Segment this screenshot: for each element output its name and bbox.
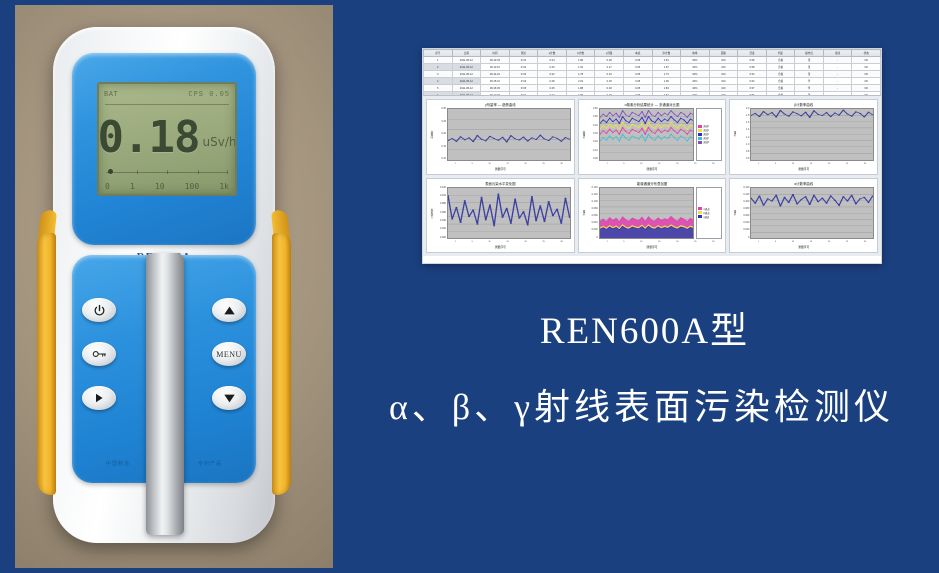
y-tick-label: 0.15 xyxy=(441,146,446,148)
chart-x-axis-label: 测量序号 xyxy=(582,167,723,172)
table-column-header[interactable]: 序号 xyxy=(424,50,453,57)
table-column-header[interactable]: 活度 xyxy=(738,50,767,57)
chart-y-ticks: 0.600.500.400.300.200.100.00 xyxy=(588,108,599,161)
table-cell: 32% xyxy=(681,57,710,64)
table-cell: 李 xyxy=(795,78,824,85)
table-cell: 100 xyxy=(709,57,738,64)
legend-label: 通道5 xyxy=(703,140,709,144)
x-tick-label: 15 xyxy=(506,163,508,165)
scale-label: 0 xyxy=(105,182,110,191)
table-cell: 3 xyxy=(424,71,453,78)
table-cell: 1.78 xyxy=(566,71,595,78)
y-tick-label: 0.6 xyxy=(746,158,749,160)
table-cell: 0.25 xyxy=(538,85,567,92)
chart-body: 计数率0.600.500.400.300.200.100.00通道1通道2通道3… xyxy=(582,108,723,161)
play-icon xyxy=(93,392,105,404)
chart-body: 计数0.1400.1200.1000.0800.0600.0400.0200α通… xyxy=(582,187,723,240)
y-tick-label: 0.080 xyxy=(440,203,446,205)
device-handle xyxy=(146,253,184,535)
x-tick-label: 10 xyxy=(792,241,794,243)
chart-body: 污染水平0.1200.1000.0800.0600.0400.0200.000 xyxy=(430,187,571,240)
y-tick-label: 0.040 xyxy=(592,222,598,224)
bargraph-tick xyxy=(227,170,228,174)
chart-gamma-dose-rate: γ剂量率 — 趋势曲线剂量率0.300.250.200.150.10151015… xyxy=(426,99,575,175)
scale-label: 100 xyxy=(185,182,199,191)
table-cell: 32% xyxy=(681,64,710,71)
table-cell: - xyxy=(823,78,852,85)
table-cell: 合格 xyxy=(766,64,795,71)
x-tick-label: 20 xyxy=(828,241,830,243)
y-tick-label: 0.060 xyxy=(440,212,446,214)
chart-surface-contamination: 表面污染水平变化图污染水平0.1200.1000.0800.0600.0400.… xyxy=(426,178,575,254)
chart-body: 计数2.01.81.61.41.21.00.80.6 xyxy=(733,108,874,161)
product-photo: BAT CPS 0.05 0.18 uSv/h 0 1 10 100 1k RE… xyxy=(15,5,333,568)
table-cell: 2011-05-12 xyxy=(452,85,481,92)
table-column-header[interactable]: 状态 xyxy=(852,50,881,57)
y-tick-label: 1.0 xyxy=(746,144,749,146)
x-tick-label: 30 xyxy=(864,241,866,243)
y-tick-label: 0.20 xyxy=(441,133,446,135)
table-cell: 0.05 xyxy=(623,64,652,71)
table-cell: 09:16:45 xyxy=(481,85,510,92)
y-tick-label: 0.040 xyxy=(743,222,749,224)
table-cell: P-04 xyxy=(509,78,538,85)
x-tick-label: 20 xyxy=(524,241,526,243)
y-tick-label: 0.020 xyxy=(592,229,598,231)
x-tick-label: 25 xyxy=(542,241,544,243)
y-tick-label: 0.10 xyxy=(441,158,446,160)
x-tick-label: 15 xyxy=(506,241,508,243)
table-cell: 0.28 xyxy=(538,78,567,85)
table-cell: 合格 xyxy=(766,71,795,78)
x-tick-label: 5 xyxy=(472,241,473,243)
y-tick-label: 0.100 xyxy=(743,201,749,203)
play-key[interactable] xyxy=(82,386,116,410)
y-tick-label: 0.140 xyxy=(592,187,598,189)
table-cell: 0.54 xyxy=(738,71,767,78)
x-tick-label: 5 xyxy=(775,163,776,165)
legend-swatch xyxy=(698,141,702,144)
table-cell: P-01 xyxy=(509,57,538,64)
table-cell: 100 xyxy=(709,71,738,78)
table-cell: 0.56 xyxy=(738,57,767,64)
table-row[interactable]: 32011-05-1209:14:22P-030.221.780.190.051… xyxy=(424,71,881,78)
table-cell: - xyxy=(823,64,852,71)
chart-beta-count: β计数率曲线计数2.01.81.61.41.21.00.80.615101520… xyxy=(729,99,878,175)
table-cell: 1.88 xyxy=(566,85,595,92)
y-tick-label: 0.10 xyxy=(593,150,598,152)
table-cell: 32% xyxy=(681,85,710,92)
table-cell: 09:14:22 xyxy=(481,71,510,78)
table-cell: 0.17 xyxy=(595,64,624,71)
data-table-head: 序号日期时间测点α计数β计数γ剂量本底净计数效率面积活度判定操作员备注状态 xyxy=(424,50,881,57)
x-tick-label: 25 xyxy=(846,163,848,165)
x-tick-label: 20 xyxy=(676,241,678,243)
table-column-header[interactable]: 日期 xyxy=(452,50,481,57)
y-tick-label: 2.0 xyxy=(746,108,749,110)
bargraph-tick xyxy=(137,170,138,174)
y-tick-label: 0.100 xyxy=(592,201,598,203)
chart-y-axis-label: 计数 xyxy=(733,108,739,161)
bargraph-tick xyxy=(167,170,168,174)
x-tick-label: 30 xyxy=(864,163,866,165)
table-cell: 1.83 xyxy=(652,85,681,92)
table-cell: 合格 xyxy=(766,85,795,92)
legend-item: γ通道 xyxy=(698,215,720,219)
table-cell: P-02 xyxy=(509,64,538,71)
table-cell: 0.19 xyxy=(595,71,624,78)
table-column-header[interactable]: 效率 xyxy=(681,50,710,57)
x-tick-label: 1 xyxy=(455,241,456,243)
key-lock-key[interactable] xyxy=(82,342,116,366)
chart-multi-nuclide: α核素分析结果统计 — 多通道对比图计数率0.600.500.400.300.2… xyxy=(578,99,727,175)
chart-y-ticks: 0.1200.1000.0800.0600.0400.0200.000 xyxy=(436,187,447,240)
chart-legend: α通道β通道γ通道 xyxy=(696,187,722,240)
y-tick-label: 0.080 xyxy=(592,208,598,210)
y-tick-label: 0.120 xyxy=(743,194,749,196)
table-cell: 1 xyxy=(424,57,453,64)
lcd-unit: uSv/h xyxy=(203,135,237,149)
table-cell: 0.22 xyxy=(538,71,567,78)
x-tick-label: 1 xyxy=(758,163,759,165)
lcd-display: BAT CPS 0.05 0.18 uSv/h 0 1 10 100 1k xyxy=(97,82,237,196)
measurement-data-table: 序号日期时间测点α计数β计数γ剂量本底净计数效率面积活度判定操作员备注状态 12… xyxy=(423,49,881,96)
x-tick-label: 25 xyxy=(694,241,696,243)
table-cell: 0.05 xyxy=(623,71,652,78)
legend-label: γ通道 xyxy=(703,215,709,219)
table-cell: - xyxy=(823,71,852,78)
table-cell: 32% xyxy=(681,71,710,78)
menu-key[interactable]: MENU xyxy=(212,342,246,366)
x-tick-label: 10 xyxy=(640,241,642,243)
chart-x-axis-label: 测量序号 xyxy=(733,167,874,172)
table-cell: 1.86 xyxy=(566,57,595,64)
triangle-up-icon xyxy=(223,305,236,316)
y-tick-label: 0.060 xyxy=(592,215,598,217)
chart-y-axis-label: 计数率 xyxy=(582,108,588,161)
rubber-grip-right xyxy=(272,233,291,495)
y-tick-label: 0.080 xyxy=(743,208,749,210)
footer-mark: 中国制造 xyxy=(106,460,130,467)
table-cell: 2011-05-12 xyxy=(452,64,481,71)
menu-key-label: MENU xyxy=(216,350,242,359)
table-cell: OK xyxy=(852,64,881,71)
table-header-row: 序号日期时间测点α计数β计数γ剂量本底净计数效率面积活度判定操作员备注状态 xyxy=(424,50,881,57)
x-tick-label: 10 xyxy=(640,163,642,165)
bargraph-indicator-dot xyxy=(108,169,113,174)
table-cell: 0.05 xyxy=(623,57,652,64)
y-tick-label: 1.4 xyxy=(746,129,749,131)
table-cell: OK xyxy=(852,57,881,64)
chart-y-axis-label: 污染水平 xyxy=(430,187,436,240)
table-cell: 2011-05-12 xyxy=(452,71,481,78)
table-cell: P-03 xyxy=(509,71,538,78)
table-cell: 0.62 xyxy=(738,78,767,85)
x-tick-label: 25 xyxy=(542,163,544,165)
table-cell: 0.05 xyxy=(623,78,652,85)
table-cell: OK xyxy=(852,85,881,92)
title-block: REN600A型 α、β、γ射线表面污染检测仪 xyxy=(340,300,939,430)
x-tick-label: 5 xyxy=(623,241,624,243)
table-cell: - xyxy=(823,57,852,64)
table-row[interactable]: 52011-05-1209:16:45P-050.251.880.180.051… xyxy=(424,85,881,92)
x-tick-label: 5 xyxy=(623,163,624,165)
table-cell: 1.92 xyxy=(566,64,595,71)
table-cell: 0.57 xyxy=(738,85,767,92)
table-row[interactable]: 22011-05-1209:13:10P-020.261.920.170.051… xyxy=(424,64,881,71)
table-column-header[interactable]: 净计数 xyxy=(652,50,681,57)
lcd-value: 0.18 xyxy=(98,112,200,163)
y-tick-label: 0.20 xyxy=(593,141,598,143)
chart-plot-area xyxy=(447,108,571,161)
table-cell: 合格 xyxy=(766,57,795,64)
y-tick-label: 0.25 xyxy=(441,121,446,123)
rubber-grip-left xyxy=(37,233,56,495)
chart-body: 计数0.1400.1200.1000.0800.0600.0400.0200 xyxy=(733,187,874,240)
table-cell: 09:13:10 xyxy=(481,64,510,71)
y-tick-label: 0.020 xyxy=(743,229,749,231)
y-tick-label: 0.50 xyxy=(593,116,598,118)
battery-indicator: BAT xyxy=(104,91,118,99)
y-tick-label: 0.120 xyxy=(440,187,446,189)
power-key[interactable] xyxy=(82,298,116,322)
table-cell: 0.58 xyxy=(738,64,767,71)
table-cell: 2.04 xyxy=(566,78,595,85)
x-tick-label: 30 xyxy=(560,241,562,243)
table-cell: 2 xyxy=(424,64,453,71)
y-tick-label: 0.40 xyxy=(593,125,598,127)
triangle-down-icon xyxy=(223,393,236,404)
lcd-status-text: CPS 0.05 xyxy=(188,91,230,99)
chart-plot-area xyxy=(750,187,874,240)
chart-legend: 通道1通道2通道3通道4通道5 xyxy=(696,108,722,161)
scale-label: 1 xyxy=(130,182,135,191)
x-tick-label: 15 xyxy=(810,163,812,165)
table-cell: 1.73 xyxy=(652,71,681,78)
table-cell: 张 xyxy=(795,71,824,78)
down-key[interactable] xyxy=(212,386,246,410)
chart-plot-area xyxy=(750,108,874,161)
legend-swatch xyxy=(698,215,702,218)
chart-x-axis-label: 测量序号 xyxy=(582,245,723,250)
y-tick-label: 1.2 xyxy=(746,137,749,139)
table-cell: 李 xyxy=(795,85,824,92)
chart-y-ticks: 2.01.81.61.41.21.00.80.6 xyxy=(739,108,750,161)
y-tick-label: 1.8 xyxy=(746,115,749,117)
table-cell: 100 xyxy=(709,85,738,92)
chart-body: 剂量率0.300.250.200.150.10 xyxy=(430,108,571,161)
x-tick-label: 1 xyxy=(606,163,607,165)
table-cell: 张 xyxy=(795,64,824,71)
lcd-bargraph xyxy=(106,170,228,174)
legend-item: 通道5 xyxy=(698,140,720,144)
software-screenshot: 序号日期时间测点α计数β计数γ剂量本底净计数效率面积活度判定操作员备注状态 12… xyxy=(422,48,882,264)
chart-alpha-count: α计数率曲线计数0.1400.1200.1000.0800.0600.0400.… xyxy=(729,178,878,254)
chart-y-axis-label: 剂量率 xyxy=(430,108,436,161)
chart-x-axis-label: 测量序号 xyxy=(733,245,874,250)
data-table-element: 序号日期时间测点α计数β计数γ剂量本底净计数效率面积活度判定操作员备注状态 12… xyxy=(423,49,881,96)
x-tick-label: 5 xyxy=(775,241,776,243)
table-column-header[interactable]: β计数 xyxy=(566,50,595,57)
table-cell: 0.26 xyxy=(538,64,567,71)
scale-label: 10 xyxy=(155,182,165,191)
table-cell: OK xyxy=(852,71,881,78)
table-cell: 0.18 xyxy=(595,57,624,64)
y-tick-label: 0.60 xyxy=(593,108,598,110)
table-column-header[interactable]: γ剂量 xyxy=(595,50,624,57)
lcd-main-readout: 0.18 uSv/h xyxy=(99,106,235,168)
x-tick-label: 10 xyxy=(792,163,794,165)
y-tick-label: 0.120 xyxy=(592,194,598,196)
table-row[interactable]: 12011-05-1209:12:03P-010.241.860.180.051… xyxy=(424,57,881,64)
table-cell: 0.18 xyxy=(595,85,624,92)
x-tick-label: 1 xyxy=(455,163,456,165)
x-tick-label: 20 xyxy=(524,163,526,165)
chart-y-ticks: 0.1400.1200.1000.0800.0600.0400.0200 xyxy=(588,187,599,240)
x-tick-label: 25 xyxy=(694,163,696,165)
x-tick-label: 20 xyxy=(828,163,830,165)
x-tick-label: 10 xyxy=(488,163,490,165)
x-tick-label: 15 xyxy=(658,163,660,165)
footer-mark: 专利产品 xyxy=(198,460,222,467)
chart-y-axis-label: 计数 xyxy=(733,187,739,240)
y-tick-label: 0 xyxy=(748,237,749,239)
table-cell: 100 xyxy=(709,78,738,85)
up-key[interactable] xyxy=(212,298,246,322)
table-cell: 1.87 xyxy=(652,64,681,71)
table-cell: 合格 xyxy=(766,78,795,85)
lcd-top-bar: BAT CPS 0.05 xyxy=(104,88,230,101)
key-icon xyxy=(92,348,107,360)
table-column-header[interactable]: 本底 xyxy=(623,50,652,57)
lcd-scale-labels: 0 1 10 100 1k xyxy=(105,182,229,191)
table-cell: 09:12:03 xyxy=(481,57,510,64)
chart-x-axis-label: 测量序号 xyxy=(430,245,571,250)
y-tick-label: 0.000 xyxy=(440,237,446,239)
chart-energy-spectrum-band: 能谱通道分布叠加图计数0.1400.1200.1000.0800.0600.04… xyxy=(578,178,727,254)
product-title-line1: REN600A型 xyxy=(340,300,939,354)
table-cell: OK xyxy=(852,78,881,85)
x-tick-label: 15 xyxy=(658,241,660,243)
table-column-header[interactable]: 备注 xyxy=(823,50,852,57)
scale-label: 1k xyxy=(219,182,229,191)
product-title-line2: α、β、γ射线表面污染检测仪 xyxy=(340,378,939,430)
y-tick-label: 0.8 xyxy=(746,151,749,153)
table-cell: 32% xyxy=(681,78,710,85)
bargraph-tick xyxy=(198,170,199,174)
lcd-divider xyxy=(105,104,229,105)
table-cell: 0.05 xyxy=(623,85,652,92)
table-cell: 0.24 xyxy=(538,57,567,64)
table-column-header[interactable]: 判定 xyxy=(766,50,795,57)
table-column-header[interactable]: α计数 xyxy=(538,50,567,57)
data-table-body: 12011-05-1209:12:03P-010.241.860.180.051… xyxy=(424,57,881,97)
y-tick-label: 0.040 xyxy=(440,220,446,222)
y-tick-label: 0.020 xyxy=(440,228,446,230)
charts-grid: γ剂量率 — 趋势曲线剂量率0.300.250.200.150.10151015… xyxy=(423,96,881,256)
table-cell: 1.81 xyxy=(652,57,681,64)
table-cell: - xyxy=(823,85,852,92)
chart-plot-area xyxy=(599,187,695,240)
table-column-header[interactable]: 面积 xyxy=(709,50,738,57)
chart-y-ticks: 0.300.250.200.150.10 xyxy=(436,108,447,161)
table-cell: P-05 xyxy=(509,85,538,92)
x-tick-label: 30 xyxy=(560,163,562,165)
y-tick-label: 0.00 xyxy=(593,158,598,160)
y-tick-label: 0.100 xyxy=(440,195,446,197)
table-cell: 2011-05-12 xyxy=(452,57,481,64)
table-cell: 1.99 xyxy=(652,78,681,85)
y-tick-label: 0.060 xyxy=(743,215,749,217)
chart-x-axis-label: 测量序号 xyxy=(430,167,571,172)
table-cell: 0.18 xyxy=(595,78,624,85)
x-tick-label: 30 xyxy=(712,241,714,243)
power-icon xyxy=(93,304,106,317)
y-tick-label: 1.6 xyxy=(746,122,749,124)
table-cell: 张 xyxy=(795,57,824,64)
table-cell: 09:15:31 xyxy=(481,78,510,85)
y-tick-label: 0 xyxy=(596,237,597,239)
table-cell: 100 xyxy=(709,64,738,71)
chart-y-axis-label: 计数 xyxy=(582,187,588,240)
y-tick-label: 0.30 xyxy=(441,108,446,110)
x-tick-label: 20 xyxy=(676,163,678,165)
x-tick-label: 15 xyxy=(810,241,812,243)
table-cell: 5 xyxy=(424,85,453,92)
table-row[interactable]: 42011-05-1209:15:31P-040.282.040.180.051… xyxy=(424,78,881,85)
x-tick-label: 5 xyxy=(472,163,473,165)
chart-plot-area xyxy=(447,187,571,240)
x-tick-label: 25 xyxy=(846,241,848,243)
x-tick-label: 30 xyxy=(712,163,714,165)
x-tick-label: 1 xyxy=(758,241,759,243)
chart-plot-area xyxy=(599,108,695,161)
table-column-header[interactable]: 测点 xyxy=(509,50,538,57)
y-tick-label: 0.30 xyxy=(593,133,598,135)
table-column-header[interactable]: 时间 xyxy=(481,50,510,57)
y-tick-label: 0.140 xyxy=(743,187,749,189)
table-cell: 4 xyxy=(424,78,453,85)
table-column-header[interactable]: 操作员 xyxy=(795,50,824,57)
table-cell: 2011-05-12 xyxy=(452,78,481,85)
x-tick-label: 10 xyxy=(488,241,490,243)
chart-y-ticks: 0.1400.1200.1000.0800.0600.0400.0200 xyxy=(739,187,750,240)
x-tick-label: 1 xyxy=(606,241,607,243)
